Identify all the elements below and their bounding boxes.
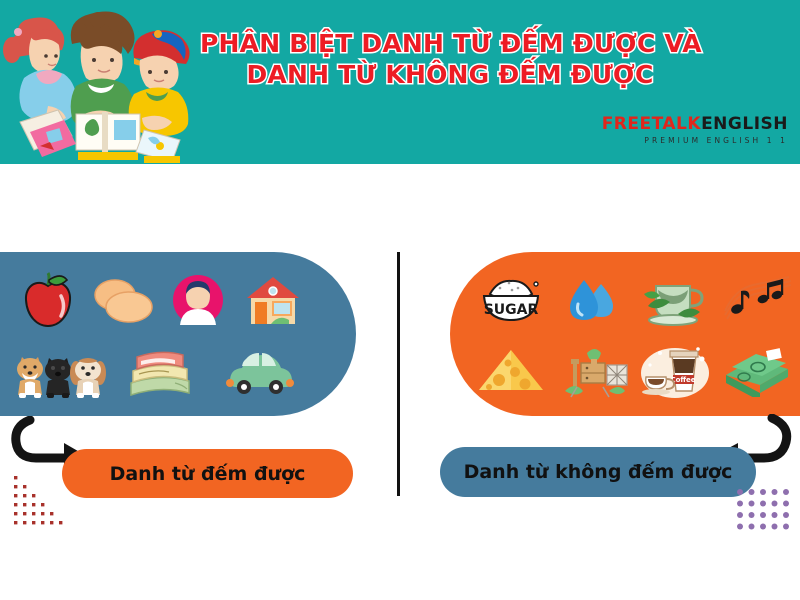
water-drops-icon xyxy=(552,267,634,333)
dots-grid-decoration xyxy=(735,487,797,541)
logo-tagline: PREMIUM ENGLISH 1 1 xyxy=(602,136,788,145)
logo-wordmark: FREETALKENGLISH xyxy=(602,114,788,134)
uncountable-icon-row-1: SUGAR xyxy=(470,267,800,333)
logo-part-english: ENGLISH xyxy=(701,114,788,134)
page-title: PHÂN BIỆT DANH TỪ ĐẾM ĐƯỢC VÀ DANH TỪ KH… xyxy=(200,28,700,90)
cheese-icon xyxy=(470,338,552,404)
dots-triangle-decoration xyxy=(12,474,90,530)
title-line-1: PHÂN BIỆT DANH TỪ ĐẾM ĐƯỢC VÀ xyxy=(200,28,700,59)
title-line-2: DANH TỪ KHÔNG ĐẾM ĐƯỢC xyxy=(200,59,700,90)
uncountable-icon-row-2: Coffee xyxy=(470,338,800,404)
countable-icon-row-2 xyxy=(10,338,310,404)
children-reading-illustration xyxy=(2,6,207,164)
vertical-divider xyxy=(397,252,400,496)
girl-figure xyxy=(3,17,76,122)
dogs-icon xyxy=(10,338,110,404)
music-notes-icon xyxy=(716,267,798,333)
slide-canvas: PHÂN BIỆT DANH TỪ ĐẾM ĐƯỢC VÀ DANH TỪ KH… xyxy=(0,0,800,600)
sugar-bowl-icon: SUGAR xyxy=(470,267,552,333)
money-icon xyxy=(716,338,798,404)
books-stack-icon xyxy=(110,338,210,404)
apple-icon xyxy=(10,267,85,333)
svg-text:SUGAR: SUGAR xyxy=(484,302,539,318)
uncountable-icon-grid: SUGAR xyxy=(470,264,800,406)
countable-icon-row-1 xyxy=(10,267,310,333)
coffee-icon: Coffee xyxy=(634,338,716,404)
dog-beagle xyxy=(70,358,106,398)
house-icon xyxy=(235,267,310,333)
person-avatar-icon xyxy=(160,267,235,333)
countable-nouns-panel xyxy=(0,252,356,416)
countable-icon-grid xyxy=(10,264,310,406)
countable-label-text: Danh từ đếm được xyxy=(110,463,306,485)
eggs-icon xyxy=(85,267,160,333)
uncountable-label-text: Danh từ không đếm được xyxy=(464,461,733,483)
logo-part-freetalk: FREETALK xyxy=(602,114,701,134)
brand-logo: FREETALKENGLISH PREMIUM ENGLISH 1 1 xyxy=(602,114,788,145)
car-icon xyxy=(210,338,310,404)
countable-label-button[interactable]: Danh từ đếm được xyxy=(62,449,353,498)
header-banner: PHÂN BIỆT DANH TỪ ĐẾM ĐƯỢC VÀ DANH TỪ KH… xyxy=(0,0,800,164)
furniture-icon xyxy=(552,338,634,404)
tea-cup-icon xyxy=(634,267,716,333)
uncountable-nouns-panel: SUGAR xyxy=(450,252,800,416)
uncountable-label-button[interactable]: Danh từ không đếm được xyxy=(440,447,756,497)
dog-black xyxy=(45,358,71,398)
dog-shiba xyxy=(17,357,43,398)
